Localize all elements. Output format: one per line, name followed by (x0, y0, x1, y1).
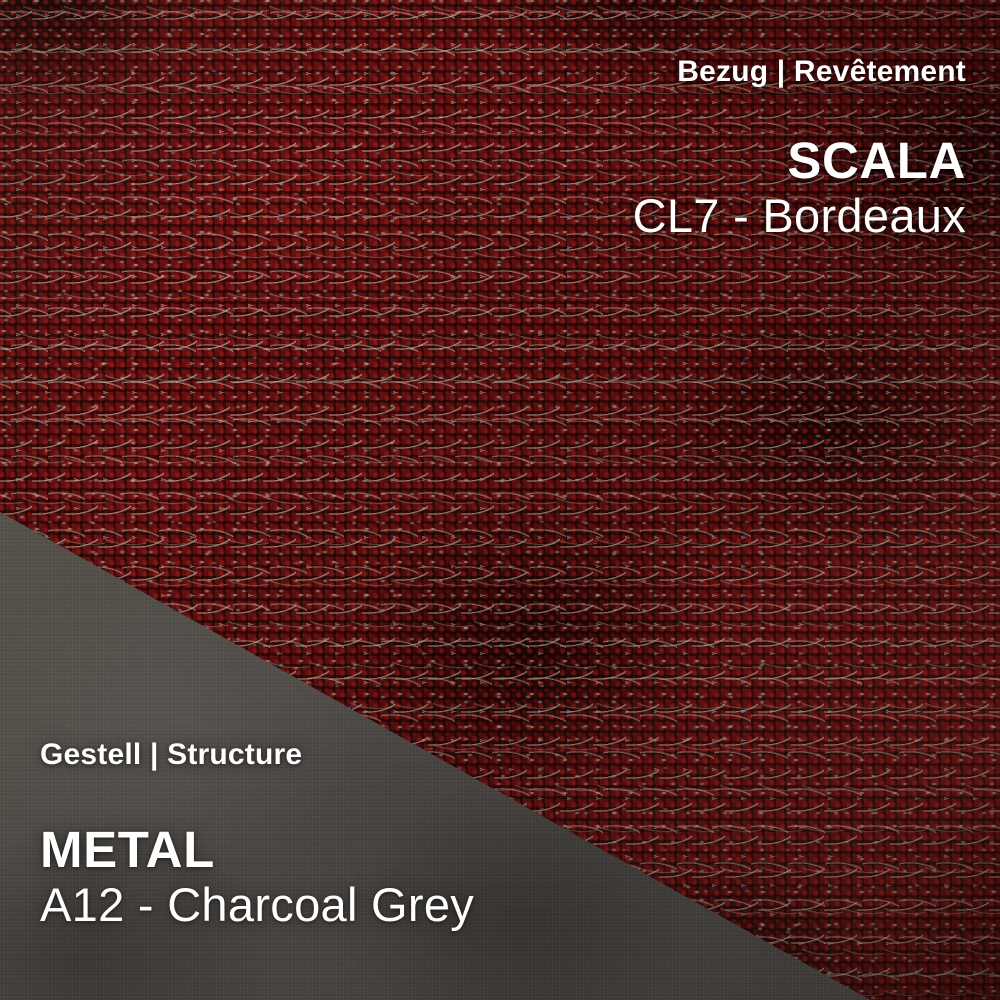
upholstery-variant-name: CL7 - Bordeaux (633, 188, 966, 243)
upholstery-category-label: Bezug | Revêtement (633, 55, 966, 88)
frame-variant-name: A12 - Charcoal Grey (40, 877, 474, 932)
frame-category-label: Gestell | Structure (40, 738, 474, 771)
upholstery-caption: Bezug | Revêtement SCALA CL7 - Bordeaux (633, 55, 966, 243)
material-swatch-card: Bezug | Revêtement SCALA CL7 - Bordeaux … (0, 0, 1000, 1000)
frame-caption: Gestell | Structure METAL A12 - Charcoal… (40, 738, 474, 932)
upholstery-brand-name: SCALA (633, 134, 966, 188)
frame-brand-name: METAL (40, 823, 474, 877)
